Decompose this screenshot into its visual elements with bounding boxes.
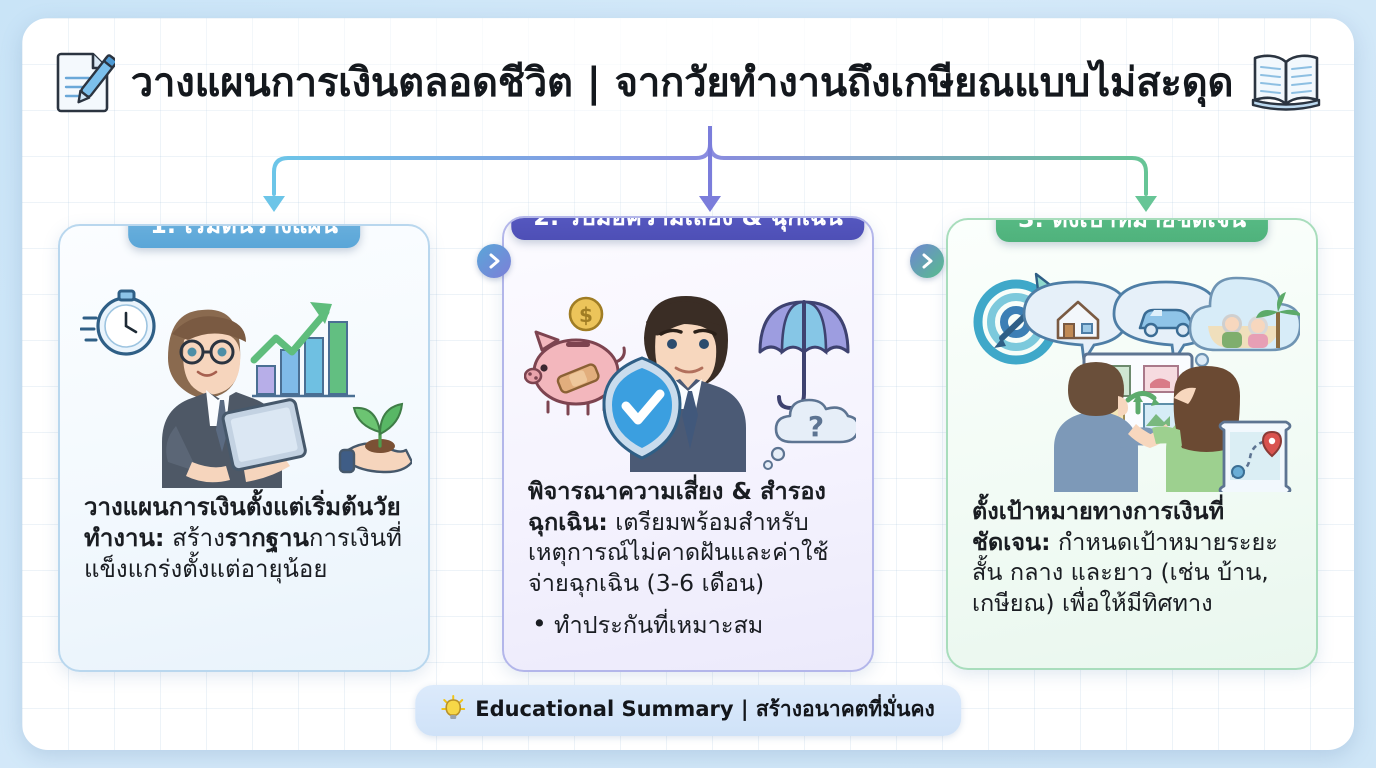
card-1-title-pill: 1. เริ่มต้นวางแผน xyxy=(128,224,360,248)
chevron-connector-2[interactable] xyxy=(910,244,944,278)
hand-holding-sprout-icon xyxy=(340,404,412,472)
businesswoman-with-tablet-illustration xyxy=(162,310,306,488)
card-step-2[interactable]: 2. รับมือความเสี่ยง & ฉุกเฉิน $ xyxy=(502,216,874,672)
note-pencil-icon xyxy=(53,48,115,118)
stopwatch-icon xyxy=(81,291,154,354)
card-3-illustration xyxy=(968,262,1296,492)
lightbulb-icon xyxy=(441,695,465,725)
footer-text: Educational Summary | สร้างอนาคตที่มั่นค… xyxy=(475,693,935,726)
card-step-1[interactable]: 1. เริ่มต้นวางแผน xyxy=(58,224,430,672)
header: วางแผนการเงินตลอดชีวิต | จากวัยทำงานถึงเ… xyxy=(22,42,1354,124)
card-2-bullets: ทำประกันที่เหมาะสม xyxy=(530,610,852,641)
card-2-body: พิจารณาความเสี่ยง & สำรองฉุกเฉิน: เตรียม… xyxy=(524,476,852,598)
card-1-body: วางแผนการเงินตั้งแต่เริ่มต้นวัยทำงาน: สร… xyxy=(80,492,408,586)
card-1-illustration xyxy=(80,274,408,488)
card-2-title-pill: 2. รับมือความเสี่ยง & ฉุกเฉิน xyxy=(511,216,864,240)
chevron-connector-1[interactable] xyxy=(477,244,511,278)
thought-cloud-question-icon: ? xyxy=(764,400,856,469)
page-title: วางแผนการเงินตลอดชีวิต | จากวัยทำงานถึงเ… xyxy=(131,63,1234,103)
chevron-right-icon xyxy=(486,252,502,270)
cards-row: 1. เริ่มต้นวางแผน xyxy=(58,224,1318,694)
card-1-text-1: สร้าง xyxy=(165,524,225,552)
card-3-body: ตั้งเป้าหมายทางการเงินที่ชัดเจน: กำหนดเป… xyxy=(968,496,1296,618)
businessman-with-shield-illustration xyxy=(586,296,746,472)
coin-icon: $ xyxy=(570,298,602,330)
card-2-illustration: $ xyxy=(524,266,852,472)
umbrella-icon xyxy=(760,302,848,408)
card-3-title-pill: 3. ตั้งเป้าหมายชัดเจน xyxy=(996,218,1268,242)
infographic-stage: วางแผนการเงินตลอดชีวิต | จากวัยทำงานถึงเ… xyxy=(0,0,1376,768)
open-book-icon xyxy=(1249,50,1323,116)
svg-text:?: ? xyxy=(808,410,824,443)
card-step-3[interactable]: 3. ตั้งเป้าหมายชัดเจน xyxy=(946,218,1318,670)
footer-banner: Educational Summary | สร้างอนาคตที่มั่นค… xyxy=(415,685,961,736)
map-route-icon xyxy=(1220,422,1290,492)
card-1-bold-2: รากฐาน xyxy=(225,524,309,552)
infographic-panel: วางแผนการเงินตลอดชีวิต | จากวัยทำงานถึงเ… xyxy=(22,18,1354,750)
svg-text:$: $ xyxy=(579,303,593,327)
growth-bar-chart-icon xyxy=(252,302,355,396)
card-2-bullet-1: ทำประกันที่เหมาะสม xyxy=(530,610,852,641)
chevron-right-icon xyxy=(919,252,935,270)
